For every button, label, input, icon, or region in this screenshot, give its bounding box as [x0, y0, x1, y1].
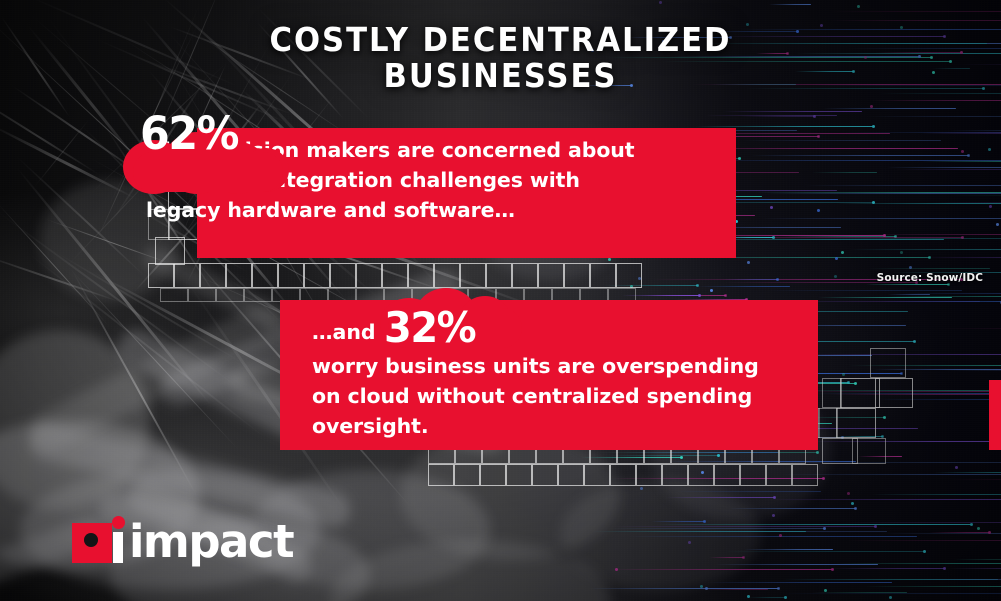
- stat-block-32: …and 32% worry business units are oversp…: [280, 282, 818, 450]
- impact-logo[interactable]: impact: [72, 517, 285, 563]
- stat-percent-value: 62%: [140, 111, 238, 156]
- stat-percent-value: 32%: [384, 307, 475, 349]
- logo-letter-i-stem: [113, 532, 123, 563]
- title-line-2: BUSINESSES: [35, 58, 966, 94]
- page-title: COSTLY DECENTRALIZED BUSINESSES: [0, 22, 1001, 94]
- stat-body-text: worry business units are overspending on…: [280, 347, 778, 441]
- infographic-canvas: COSTLY DECENTRALIZED BUSINESSES 62% of I…: [0, 0, 1001, 601]
- stat-lead-text: …and: [312, 317, 376, 347]
- stat-lead-row: …and 32%: [280, 282, 818, 347]
- source-attribution: Source: Snow/IDC: [877, 272, 983, 284]
- logo-wordmark: impact: [129, 521, 293, 563]
- stat-block-62: 62% of IT decision makers are concerned …: [118, 108, 736, 258]
- right-edge-accent: [989, 380, 1001, 450]
- logo-letter-i-dot: [112, 516, 125, 529]
- impact-square-dot-logo-icon: [72, 517, 118, 563]
- logo-inner-circle: [84, 533, 98, 547]
- title-line-1: COSTLY DECENTRALIZED: [35, 22, 966, 58]
